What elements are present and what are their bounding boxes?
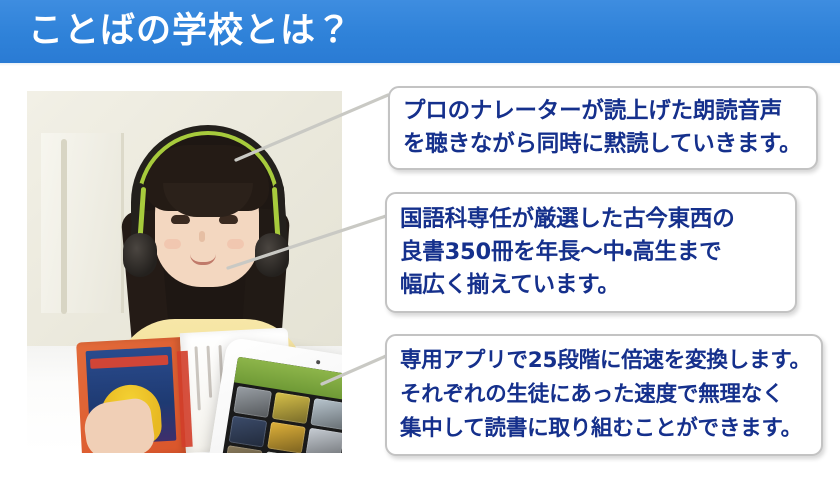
page-header: ことばの学校とは？ bbox=[0, 0, 840, 63]
tablet-book-icon bbox=[267, 422, 306, 453]
callout-box-book-selection[interactable]: 国語科専任が厳選した古今東西の良書350冊を年長〜中・高生まで幅広く揃えています… bbox=[385, 192, 797, 313]
tablet-book-icon bbox=[233, 386, 272, 418]
headphone-earcup-left bbox=[123, 233, 157, 277]
book-text-line bbox=[194, 346, 200, 410]
callout-text-3: 専用アプリで25段階に倍速を変換します。それぞれの生徒にあった速度で無理なく集中… bbox=[387, 344, 820, 446]
callout-text-2: 国語科専任が厳選した古今東西の良書350冊を年長〜中・高生まで幅広く揃えています… bbox=[387, 203, 744, 302]
callout-line: 幅広く揃えています。 bbox=[400, 272, 620, 298]
tablet-book-icon bbox=[272, 392, 311, 424]
photo-whiteboard-edge bbox=[61, 139, 67, 314]
callout-line: プロのナレーターが読上げた朗読音声 bbox=[403, 98, 782, 124]
page-title: ことばの学校とは？ bbox=[28, 7, 352, 55]
callout-box-narration[interactable]: プロのナレーターが読上げた朗読音声を聴きながら同時に黙読していきます。 bbox=[388, 86, 818, 170]
callout-text-1: プロのナレーターが読上げた朗読音声を聴きながら同時に黙読していきます。 bbox=[390, 95, 810, 161]
headphone-earcup-right bbox=[255, 233, 289, 277]
tablet-book-icon bbox=[229, 415, 268, 447]
girl-cheek-right bbox=[227, 239, 244, 249]
photo-whiteboard bbox=[41, 133, 124, 313]
girl-nose bbox=[199, 231, 205, 242]
callout-line: 集中して読書に取り組むことができます。 bbox=[400, 416, 802, 441]
callout-box-speed-app[interactable]: 専用アプリで25段階に倍速を変換します。それぞれの生徒にあった速度で無理なく集中… bbox=[385, 334, 823, 456]
tablet-book-icon bbox=[310, 398, 342, 430]
header-underline bbox=[0, 63, 840, 66]
callout-line: それぞれの生徒にあった速度で無理なく bbox=[400, 382, 783, 407]
girl-cheek-left bbox=[164, 239, 181, 249]
callout-line: 専用アプリで25段階に倍速を変換します。 bbox=[400, 348, 811, 373]
callout-line: を聴きながら同時に黙読していきます。 bbox=[403, 131, 801, 157]
slide-canvas: ことばの学校とは？ bbox=[0, 0, 840, 486]
book-text-line bbox=[206, 346, 212, 398]
callout-line: 良書350冊を年長〜中・高生まで bbox=[400, 239, 721, 265]
tablet-book-icon bbox=[306, 428, 342, 453]
photo-girl-reading bbox=[27, 91, 342, 453]
callout-line: 国語科専任が厳選した古今東西の bbox=[400, 206, 735, 232]
